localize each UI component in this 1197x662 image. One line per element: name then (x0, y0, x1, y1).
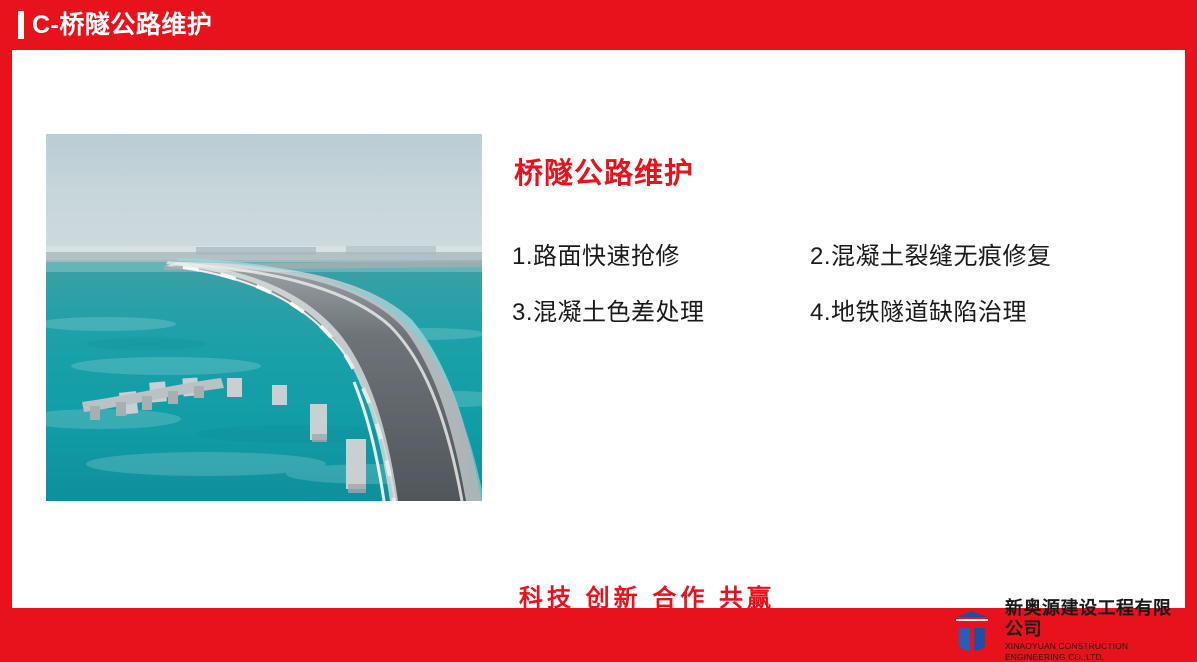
company-name-en: XINAOYUAN CONSTRUCTION ENGINEERING CO.,L… (1005, 641, 1185, 661)
section-title: 桥隧公路维护 (514, 150, 1152, 192)
content-panel: 桥隧公路维护 1.路面快速抢修 2.混凝土裂缝无痕修复 3.混凝土色差处理 4.… (12, 50, 1185, 608)
slide: C-桥隧公路维护 (0, 0, 1197, 620)
list-item: 1.路面快速抢修 (512, 236, 804, 271)
company-name-cn: 新奥源建设工程有限公司 (1005, 598, 1185, 639)
service-item-list: 1.路面快速抢修 2.混凝土裂缝无痕修复 3.混凝土色差处理 4.地铁隧道缺陷治… (512, 236, 1152, 327)
list-item: 2.混凝土裂缝无痕修复 (804, 236, 1152, 271)
shield-logo-icon (947, 607, 997, 653)
list-item: 4.地铁隧道缺陷治理 (804, 292, 1152, 327)
company-logo: 新奥源建设工程有限公司 XINAOYUAN CONSTRUCTION ENGIN… (947, 598, 1185, 662)
bridge-photo (46, 134, 482, 501)
list-item: 3.混凝土色差处理 (512, 292, 804, 327)
page-title: C-桥隧公路维护 (32, 13, 212, 38)
text-column: 桥隧公路维护 1.路面快速抢修 2.混凝土裂缝无痕修复 3.混凝土色差处理 4.… (512, 150, 1152, 327)
slide-header: C-桥隧公路维护 (0, 0, 1197, 50)
header-accent-bar (18, 11, 24, 39)
logo-text: 新奥源建设工程有限公司 XINAOYUAN CONSTRUCTION ENGIN… (1005, 598, 1185, 662)
slogan: 科技 创新 合作 共赢 (519, 578, 775, 613)
